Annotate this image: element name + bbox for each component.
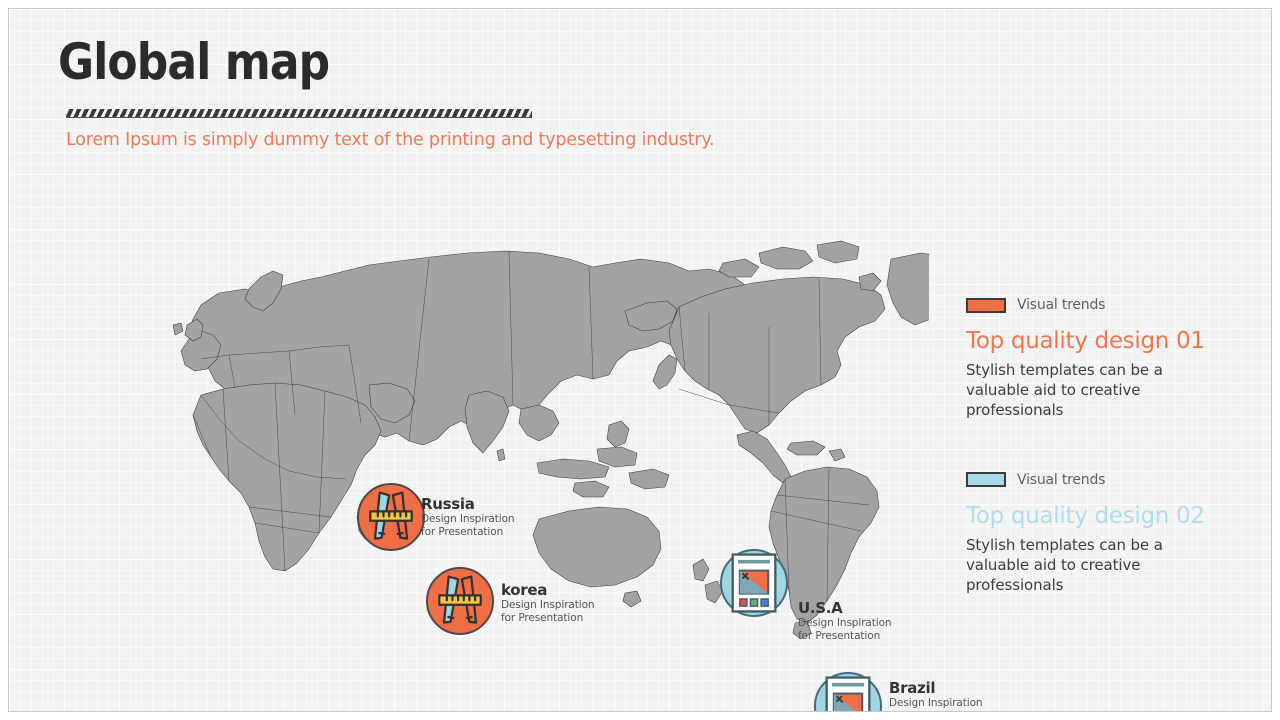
map-marker-label-korea: korea Design Inspiration for Presentatio… xyxy=(501,581,594,625)
page-subtitle: Lorem Ipsum is simply dummy text of the … xyxy=(66,130,714,150)
marker-subtitle-line1: Design Inspiration xyxy=(889,697,982,710)
striped-divider-icon xyxy=(66,109,532,118)
marker-subtitle-line1: Design Inspiration xyxy=(421,513,514,526)
marker-subtitle-line2: for Presentation xyxy=(798,630,891,643)
map-marker-label-usa: U.S.A Design Inspiration for Presentatio… xyxy=(798,599,891,643)
map-landmasses xyxy=(173,241,929,639)
legend-header-01: Visual trends xyxy=(966,295,1266,315)
marker-name: Brazil xyxy=(889,679,982,697)
pencil-ruler-icon xyxy=(359,485,423,549)
slide-canvas: Global map Lorem Ipsum is simply dummy t… xyxy=(8,8,1272,712)
legend-panel: Visual trends Top quality design 01 Styl… xyxy=(966,295,1266,596)
presentation-card-icon xyxy=(816,674,880,712)
world-map-svg xyxy=(69,219,929,649)
world-map: Russia Design Inspiration for Presentati… xyxy=(69,219,929,649)
marker-name: Russia xyxy=(421,495,514,513)
legend-block-01: Visual trends Top quality design 01 Styl… xyxy=(966,295,1266,421)
marker-name: U.S.A xyxy=(798,599,891,617)
legend-title-02: Top quality design 02 xyxy=(966,503,1266,529)
marker-subtitle-line1: Design Inspiration xyxy=(501,599,594,612)
marker-subtitle-line2: for Presentation xyxy=(421,526,514,539)
legend-swatch-blue-icon xyxy=(966,472,1006,487)
presentation-card-icon xyxy=(722,551,786,615)
legend-trend-label: Visual trends xyxy=(1017,472,1105,488)
legend-swatch-orange-icon xyxy=(966,298,1006,313)
map-marker-brazil[interactable] xyxy=(814,672,882,712)
legend-header-02: Visual trends xyxy=(966,470,1266,490)
legend-block-02: Visual trends Top quality design 02 Styl… xyxy=(966,470,1266,596)
map-marker-label-russia: Russia Design Inspiration for Presentati… xyxy=(421,495,514,539)
marker-name: korea xyxy=(501,581,594,599)
map-marker-russia[interactable] xyxy=(357,483,425,551)
legend-trend-label: Visual trends xyxy=(1017,297,1105,313)
pencil-ruler-icon xyxy=(428,569,492,633)
map-marker-usa[interactable] xyxy=(720,549,788,617)
marker-subtitle-line2: for Presentation xyxy=(889,710,982,712)
marker-subtitle-line1: Design Inspiration xyxy=(798,617,891,630)
marker-subtitle-line2: for Presentation xyxy=(501,612,594,625)
legend-body-02: Stylish templates can be a valuable aid … xyxy=(966,536,1181,596)
map-marker-label-brazil: Brazil Design Inspiration for Presentati… xyxy=(889,679,982,712)
map-marker-korea[interactable] xyxy=(426,567,494,635)
page-title: Global map xyxy=(58,33,329,91)
legend-title-01: Top quality design 01 xyxy=(966,328,1266,354)
legend-body-01: Stylish templates can be a valuable aid … xyxy=(966,361,1181,421)
